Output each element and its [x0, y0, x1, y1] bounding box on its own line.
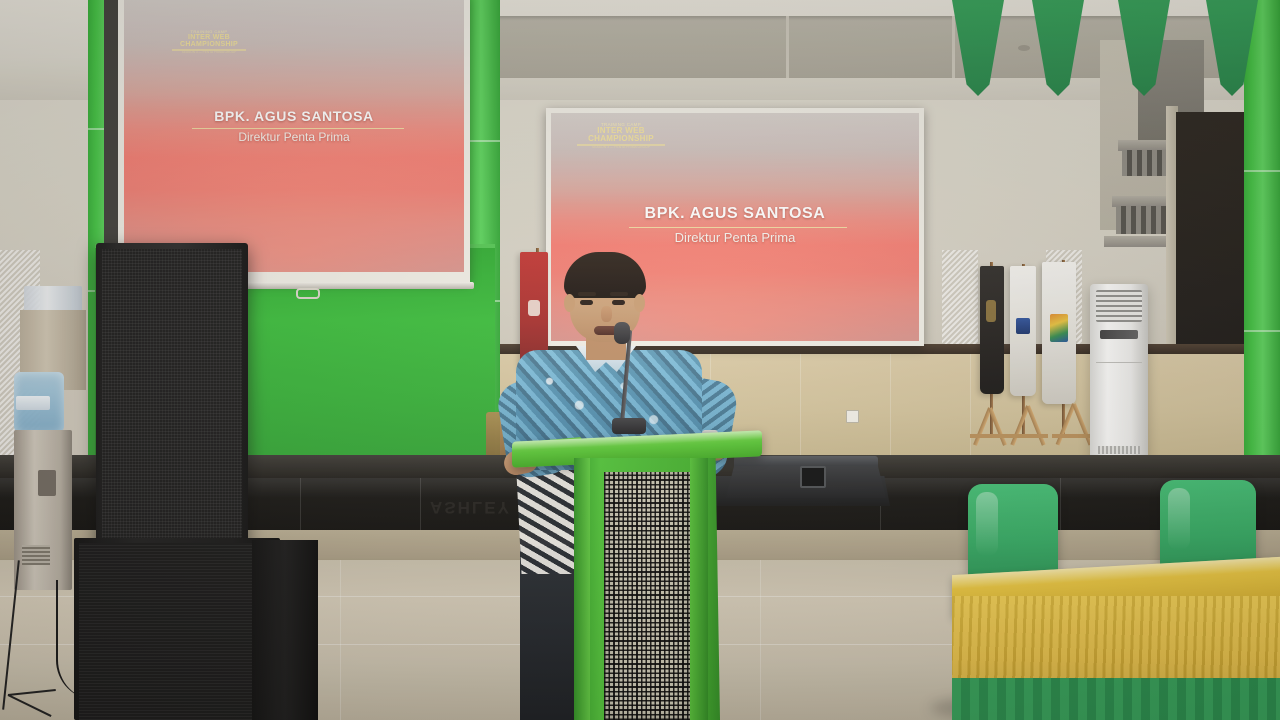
chair-highlight: [976, 492, 998, 556]
screen-pull-handle-left[interactable]: [296, 288, 320, 299]
subwoofer-cabinet: [74, 538, 280, 720]
flag-tripod: [1004, 406, 1054, 452]
podium-mesh-panel: [604, 472, 690, 720]
slide-logo-sub: SEASON 3 — PENTA PRIMA GROUP: [567, 146, 675, 149]
projection-screen-left: TRAINING CAMP INTER WEB CHAMPIONSHIP SEA…: [118, 0, 470, 282]
presenter-eye: [612, 300, 625, 305]
presenter-eye: [580, 300, 593, 305]
flag-emblem: [1050, 314, 1068, 342]
subwoofer-grille: [79, 543, 275, 720]
wedge-port: [800, 466, 826, 488]
ac-control-panel[interactable]: [1100, 330, 1138, 339]
podium-rail-left: [574, 458, 590, 720]
slide-subtitle: Direktur Penta Prima: [551, 230, 919, 245]
slide-logo-sub: SEASON 3 — PENTA PRIMA GROUP: [164, 51, 254, 54]
water-dispenser[interactable]: [14, 430, 72, 590]
ceiling-beam-seam: [786, 16, 789, 78]
microphone-icon: [614, 322, 630, 344]
flag-dark: [980, 266, 1004, 394]
flag-emblem: [1016, 318, 1030, 334]
air-conditioner-unit[interactable]: [1090, 284, 1148, 462]
ceiling-beam-seam: [952, 16, 955, 78]
subwoofer-cabinet: [252, 540, 318, 720]
presenter-ear: [634, 294, 645, 312]
water-bottle-label: [16, 396, 50, 410]
dispenser-tap[interactable]: [38, 470, 56, 496]
ceiling-vent-icon: [1018, 45, 1030, 51]
slide-subtitle: Direktur Penta Prima: [124, 130, 464, 144]
slide-logo-main: INTER WEB CHAMPIONSHIP: [567, 127, 675, 143]
green-pillar-right: [1244, 0, 1280, 500]
ac-louvers-icon: [1096, 290, 1142, 322]
slide-left: TRAINING CAMP INTER WEB CHAMPIONSHIP SEA…: [124, 0, 464, 272]
presenter-brow: [610, 292, 628, 296]
slide-title: BPK. AGUS SANTOSA: [551, 205, 919, 223]
slide-rule: [629, 227, 847, 228]
podium-rail-right: [690, 458, 708, 720]
pa-speaker-main: ASHLEY: [96, 243, 248, 555]
flag-emblem: [986, 300, 996, 322]
shelf-clutter: [24, 286, 82, 312]
photo-scene: TRAINING CAMP INTER WEB CHAMPIONSHIP SEA…: [0, 0, 1280, 720]
presenter-hair: [564, 252, 646, 298]
slide-title: BPK. AGUS SANTOSA: [124, 108, 464, 124]
presenter-nose: [601, 306, 612, 322]
ac-bottom-vent: [1098, 446, 1140, 454]
slide-rule: [192, 128, 404, 129]
wall-socket: [846, 410, 859, 423]
slide-logo-main: INTER WEB CHAMPIONSHIP: [164, 34, 254, 48]
dispenser-drip-tray: [22, 545, 50, 565]
chair-highlight: [1168, 488, 1190, 550]
table-skirt-ruffle: [952, 678, 1280, 720]
speaker-grille: [102, 249, 242, 549]
presenter-ear: [564, 294, 575, 312]
ac-seam: [1096, 362, 1142, 363]
microphone-base: [612, 418, 646, 434]
presenter-brow: [578, 292, 596, 296]
